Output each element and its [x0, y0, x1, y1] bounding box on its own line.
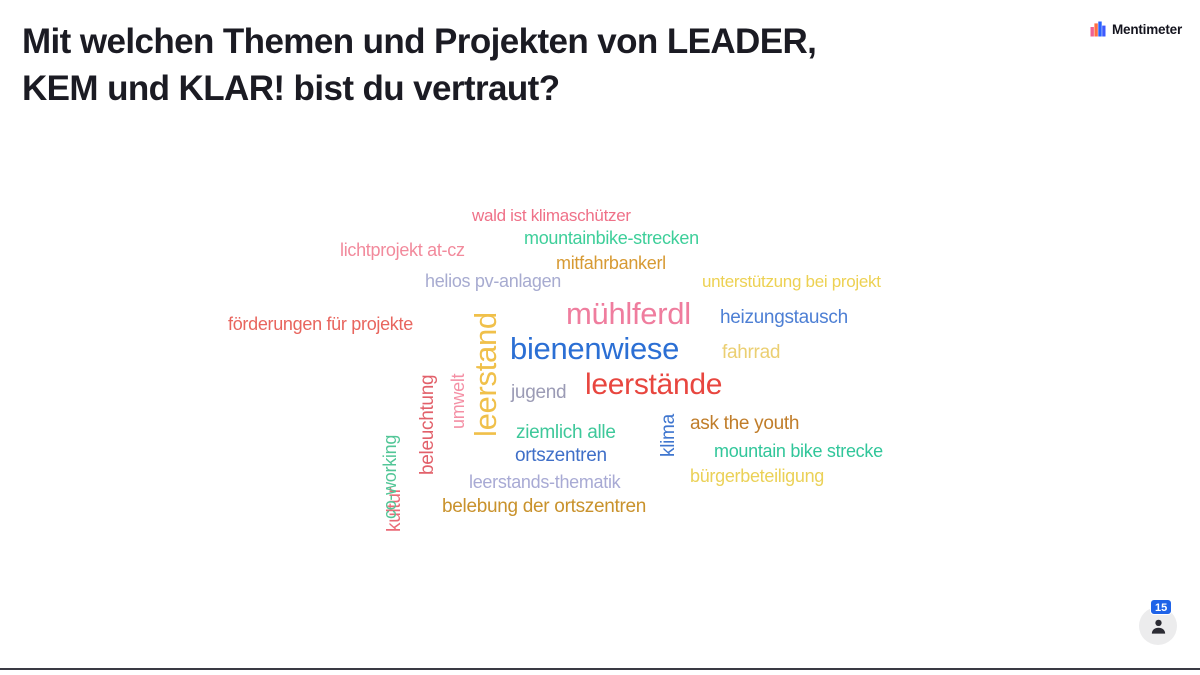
word-cloud-term: heizungstausch [720, 308, 848, 327]
page-title: Mit welchen Themen und Projekten von LEA… [22, 18, 1022, 113]
mentimeter-brand: Mentimeter [1090, 21, 1182, 37]
participant-counter[interactable]: 15 [1139, 607, 1177, 645]
word-cloud-term: helios pv-anlagen [425, 272, 561, 290]
word-cloud-term: unterstützung bei projekt [702, 273, 881, 290]
word-cloud-term: ortszentren [515, 446, 607, 465]
word-cloud-term: leerstände [585, 370, 722, 400]
mentimeter-bars-icon [1090, 21, 1106, 37]
word-cloud-term: mountainbike-strecken [524, 229, 699, 247]
word-cloud: wald ist klimaschützerlichtprojekt at-cz… [0, 150, 1200, 570]
word-cloud-term: belebung der ortszentren [442, 497, 646, 516]
word-cloud-term: leerstands-thematik [469, 473, 620, 491]
word-cloud-term: mountain bike strecke [714, 442, 883, 460]
word-cloud-term: wald ist klimaschützer [472, 207, 631, 224]
word-cloud-term: leerstand [470, 312, 501, 437]
word-cloud-term: mitfahrbankerl [556, 254, 666, 272]
word-cloud-term: klima [659, 414, 678, 457]
word-cloud-term: bürgerbeteiligung [690, 467, 824, 485]
participant-count-badge: 15 [1150, 599, 1172, 615]
word-cloud-term: lichtprojekt at-cz [340, 241, 465, 259]
person-icon [1149, 617, 1168, 636]
word-cloud-term: beleuchtung [418, 375, 437, 475]
word-cloud-term: co-working [381, 435, 399, 519]
word-cloud-term: fahrrad [722, 343, 780, 362]
word-cloud-term: ask the youth [690, 414, 799, 433]
bottom-divider [0, 668, 1200, 670]
mentimeter-wordmark: Mentimeter [1112, 22, 1182, 37]
word-cloud-term: mühlferdl [566, 298, 691, 329]
word-cloud-term: ziemlich alle [516, 423, 616, 442]
word-cloud-term: umwelt [449, 374, 467, 429]
word-cloud-term: förderungen für projekte [228, 315, 413, 333]
word-cloud-term: jugend [511, 383, 566, 402]
word-cloud-term: bienenwiese [510, 333, 679, 364]
